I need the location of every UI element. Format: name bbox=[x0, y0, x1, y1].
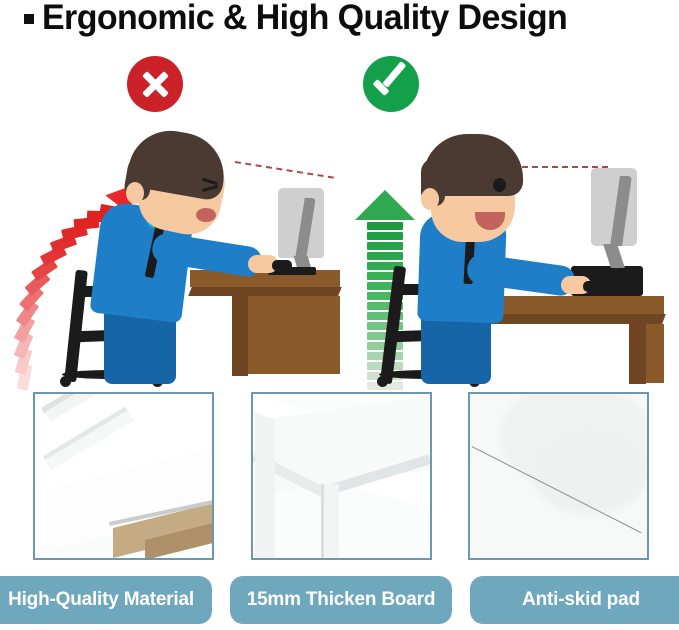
badge-high-quality-material[interactable]: High-Quality Material bbox=[0, 576, 212, 624]
sight-line-bad bbox=[235, 161, 334, 179]
good-posture-scene bbox=[339, 48, 679, 383]
badge-15mm-thicken-board[interactable]: 15mm Thicken Board bbox=[230, 576, 452, 624]
square-bullet-icon bbox=[24, 14, 34, 24]
page-header: Ergonomic & High Quality Design bbox=[0, 0, 679, 52]
stacked-boards-photo bbox=[33, 392, 214, 560]
mouth-bad bbox=[196, 208, 216, 222]
desk-leg-good bbox=[629, 324, 646, 384]
anti-skid-pad-photo bbox=[468, 392, 649, 560]
ear-bad bbox=[126, 182, 144, 204]
monitor-stand-good bbox=[603, 244, 625, 268]
desk-front-good bbox=[646, 324, 664, 383]
x-mark-icon bbox=[127, 56, 183, 112]
desk-corner-photo bbox=[251, 392, 432, 560]
posture-comparison bbox=[0, 48, 679, 383]
caption-badge-row: High-Quality Material 15mm Thicken Board… bbox=[0, 576, 679, 630]
chair-wheel-left-good bbox=[377, 376, 388, 387]
chair-wheel-left-bad bbox=[60, 376, 71, 387]
desk-edge-bad bbox=[188, 287, 342, 296]
bad-posture-scene bbox=[0, 48, 340, 383]
mouse-bad bbox=[272, 260, 292, 271]
desk-front-bad bbox=[248, 296, 340, 374]
eye-good bbox=[493, 178, 506, 192]
mouse-good bbox=[583, 281, 603, 292]
infographic-page: Ergonomic & High Quality Design bbox=[0, 0, 679, 630]
product-photo-row bbox=[0, 392, 679, 562]
badge-anti-skid-pad[interactable]: Anti-skid pad bbox=[470, 576, 679, 624]
ear-good bbox=[421, 188, 439, 210]
desk-leg-bad bbox=[232, 296, 248, 376]
page-title: Ergonomic & High Quality Design bbox=[42, 0, 567, 38]
check-mark-icon bbox=[363, 56, 419, 112]
